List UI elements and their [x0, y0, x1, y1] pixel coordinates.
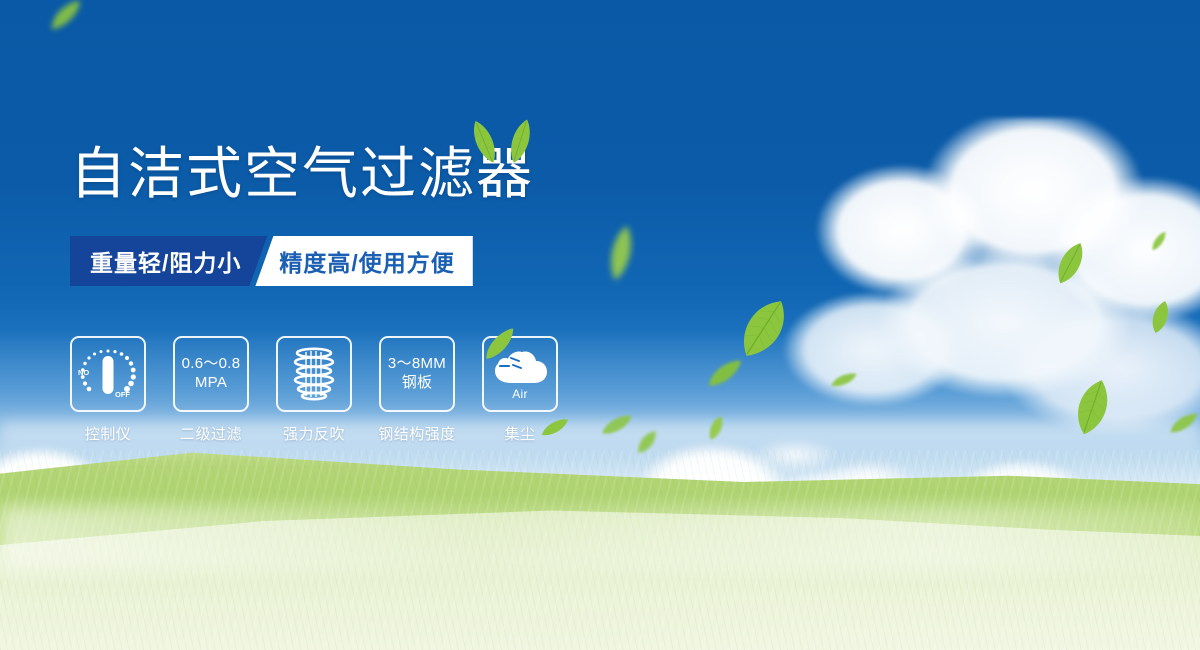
pressure-text-icon: 0.6～0.8 MPA — [182, 355, 241, 393]
floating-leaf-icon — [701, 412, 732, 445]
feature-label: 控制仪 — [85, 423, 132, 444]
svg-text:NO: NO — [78, 368, 89, 377]
svg-text:OFF: OFF — [115, 390, 130, 399]
floating-leaf-icon — [701, 353, 748, 394]
floating-leaf-icon — [829, 370, 859, 390]
feature-icon-box: NO OFF — [70, 336, 146, 412]
feature-item[interactable]: Air 集尘 — [482, 336, 558, 444]
feature-icon-box — [276, 336, 352, 412]
floating-leaf-icon — [630, 424, 665, 460]
subtitle-bar: 重量轻/阻力小 精度高/使用方便 — [70, 236, 473, 286]
wisp-cloud-1 — [730, 430, 860, 480]
floating-leaf-icon — [598, 412, 635, 439]
feature-label: 强力反吹 — [283, 423, 345, 444]
floating-leaf-icon — [42, 0, 90, 36]
floating-leaf-icon — [1143, 297, 1176, 337]
floating-leaf-icon — [602, 220, 640, 286]
feature-icon-box: 3～8MM 钢板 — [379, 336, 455, 412]
feature-list: NO OFF 控制仪 0.6～0.8 MPA 二级过滤 — [70, 336, 558, 444]
feature-label: 二级过滤 — [180, 423, 242, 444]
steel-plate-text-icon: 3～8MM 钢板 — [388, 355, 446, 393]
feature-label: 钢结构强度 — [378, 423, 456, 444]
feature-icon-box: 0.6～0.8 MPA — [173, 336, 249, 412]
feature-item[interactable]: 0.6～0.8 MPA 二级过滤 — [173, 336, 249, 444]
page-title: 自洁式空气过滤器 — [70, 146, 534, 202]
air-label: Air — [512, 387, 528, 402]
floating-leaf-icon — [1166, 408, 1200, 437]
floating-leaf-icon — [1061, 372, 1122, 442]
feature-label: 集尘 — [504, 423, 535, 444]
icon-leaf-accent-bottom — [539, 416, 572, 439]
floating-leaf-icon — [724, 287, 802, 370]
gauge-icon: NO OFF — [77, 345, 139, 403]
promo-banner: 自洁式空气过滤器 重量轻/阻力小 精度高/使用方便 — [0, 0, 1200, 650]
feature-icon-box: Air — [482, 336, 558, 412]
floating-leaf-icon — [1145, 227, 1173, 254]
subtitle-right: 精度高/使用方便 — [255, 236, 472, 286]
cumulus-cloud-large — [770, 118, 1200, 448]
floating-leaf-icon — [1046, 236, 1094, 291]
air-cloud-icon — [491, 349, 549, 389]
filter-cartridge-icon — [288, 346, 340, 402]
feature-item[interactable]: 强力反吹 — [276, 336, 352, 444]
feature-item[interactable]: 3～8MM 钢板 钢结构强度 — [379, 336, 455, 444]
subtitle-left: 重量轻/阻力小 — [70, 236, 267, 286]
feature-item[interactable]: NO OFF 控制仪 — [70, 336, 146, 444]
